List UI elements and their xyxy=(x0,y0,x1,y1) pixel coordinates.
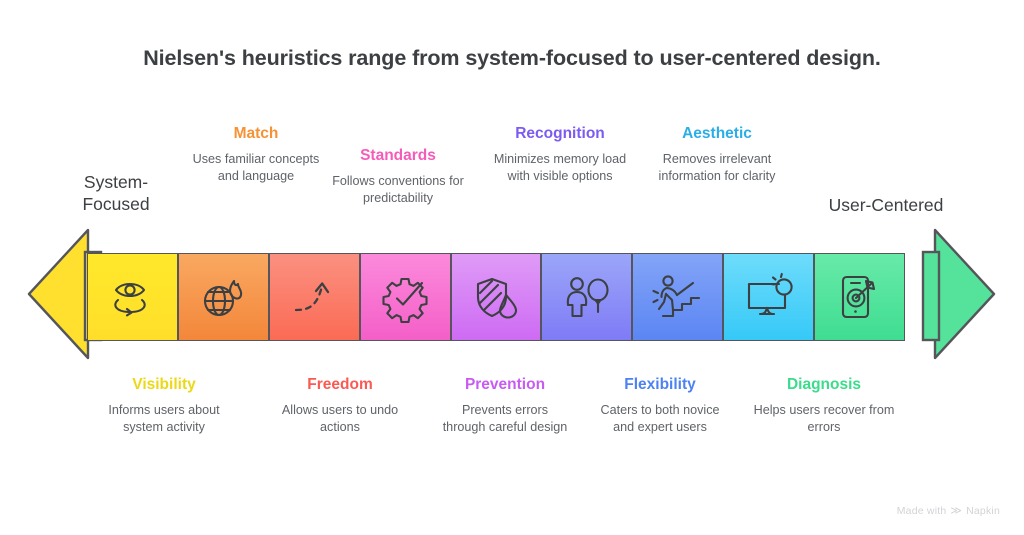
shield-droplet-icon xyxy=(468,269,524,325)
watermark-prefix: Made with xyxy=(897,505,947,517)
phone-target-icon xyxy=(832,269,888,325)
callout-desc: Minimizes memory load with visible optio… xyxy=(482,151,638,184)
callout-desc: Follows conventions for predictability xyxy=(327,173,469,206)
tile-visibility[interactable] xyxy=(87,253,178,341)
callout-desc: Allows users to undo actions xyxy=(269,402,411,435)
callout-title: Visibility xyxy=(92,375,236,395)
monitor-spark-icon xyxy=(741,269,797,325)
callout-title: Standards xyxy=(327,146,469,166)
axis-left-label: System-Focused xyxy=(58,171,174,215)
callout-title: Aesthetic xyxy=(646,124,788,144)
watermark-brand: Napkin xyxy=(966,505,1000,517)
callout-title: Flexibility xyxy=(596,375,724,395)
tile-aesthetic[interactable] xyxy=(723,253,814,341)
callout-desc: Uses familiar concepts and language xyxy=(186,151,326,184)
left-arrowhead xyxy=(29,230,88,358)
callout-desc: Prevents errors through careful design xyxy=(442,402,568,435)
callout-prevention: Prevention Prevents errors through caref… xyxy=(442,375,568,436)
callout-aesthetic: Aesthetic Removes irrelevant information… xyxy=(646,124,788,185)
callout-title: Match xyxy=(186,124,326,144)
callout-match: Match Uses familiar concepts and languag… xyxy=(186,124,326,185)
tile-flexibility[interactable] xyxy=(632,253,723,341)
gear-check-icon xyxy=(377,269,433,325)
right-arrowhead xyxy=(935,230,994,358)
page-title: Nielsen's heuristics range from system-f… xyxy=(0,46,1024,71)
tile-standards[interactable] xyxy=(360,253,451,341)
right-shaft-stub xyxy=(923,252,939,340)
tile-diagnosis[interactable] xyxy=(814,253,905,341)
napkin-logo-icon: ≫ xyxy=(950,504,962,517)
tile-recognition[interactable] xyxy=(541,253,632,341)
callout-desc: Caters to both novice and expert users xyxy=(596,402,724,435)
tile-match[interactable] xyxy=(178,253,269,341)
dashed-curved-arrow-icon xyxy=(286,269,342,325)
axis-right-label: User-Centered xyxy=(802,194,970,216)
callout-flexibility: Flexibility Caters to both novice and ex… xyxy=(596,375,724,436)
callout-title: Recognition xyxy=(482,124,638,144)
callout-title: Prevention xyxy=(442,375,568,395)
tile-freedom[interactable] xyxy=(269,253,360,341)
callout-desc: Removes irrelevant information for clari… xyxy=(646,151,788,184)
callout-standards: Standards Follows conventions for predic… xyxy=(327,146,469,207)
callout-diagnosis: Diagnosis Helps users recover from error… xyxy=(752,375,896,436)
callout-desc: Informs users about system activity xyxy=(92,402,236,435)
globe-flame-icon xyxy=(195,269,251,325)
callout-visibility: Visibility Informs users about system ac… xyxy=(92,375,236,436)
callout-recognition: Recognition Minimizes memory load with v… xyxy=(482,124,638,185)
eye-rotate-icon xyxy=(104,269,160,325)
tile-prevention[interactable] xyxy=(451,253,542,341)
callout-title: Freedom xyxy=(269,375,411,395)
watermark: Made with ≫ Napkin xyxy=(897,504,1000,517)
person-balloon-icon xyxy=(559,269,615,325)
person-stairs-icon xyxy=(650,269,706,325)
heuristic-tiles-row xyxy=(87,253,905,341)
callout-freedom: Freedom Allows users to undo actions xyxy=(269,375,411,436)
callout-title: Diagnosis xyxy=(752,375,896,395)
callout-desc: Helps users recover from errors xyxy=(752,402,896,435)
